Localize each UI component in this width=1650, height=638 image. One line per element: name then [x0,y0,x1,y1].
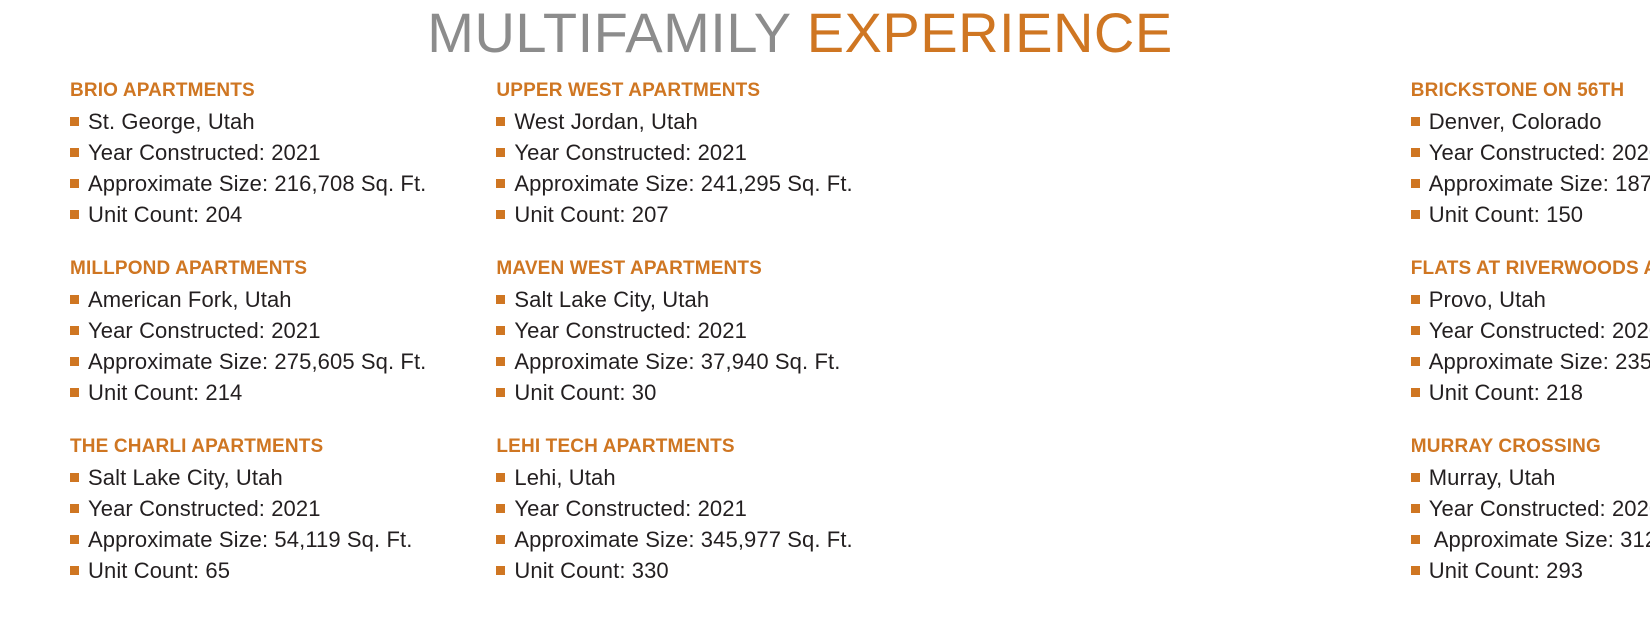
square-bullet-icon [1411,295,1420,304]
project-block-murray-crossing: MURRAY CROSSING Murray, Utah Year Constr… [1411,434,1650,586]
project-fact: Unit Count: 218 [1411,377,1650,408]
project-fact-list: Denver, Colorado Year Constructed: 2020 … [1411,106,1650,230]
project-fact-text: Denver, Colorado [1429,106,1602,137]
square-bullet-icon [496,179,505,188]
projects-grid: BRIO APARTMENTS St. George, Utah Year Co… [0,78,1650,586]
square-bullet-icon [496,566,505,575]
square-bullet-icon [70,535,79,544]
square-bullet-icon [496,504,505,513]
project-fact-text: Unit Count: 218 [1429,377,1583,408]
page-title: MULTIFAMILY EXPERIENCE [0,2,1600,64]
square-bullet-icon [70,566,79,575]
square-bullet-icon [70,326,79,335]
project-fact: Year Constructed: 2020 [1411,493,1650,524]
project-fact: Approximate Size: 312,562 Sq. Ft. [1411,524,1650,555]
project-fact-text: Unit Count: 293 [1429,555,1583,586]
square-bullet-icon [1411,117,1420,126]
project-fact-text: Provo, Utah [1429,284,1546,315]
project-fact: Provo, Utah [1411,284,1650,315]
square-bullet-icon [496,357,505,366]
project-title: BRICKSTONE ON 56TH [1411,78,1650,104]
project-fact-list: Murray, Utah Year Constructed: 2020 Appr… [1411,462,1650,586]
project-fact-text: Murray, Utah [1429,462,1556,493]
project-fact-text: Year Constructed: 2020 [1429,493,1650,524]
square-bullet-icon [496,295,505,304]
square-bullet-icon [1411,357,1420,366]
project-fact: Year Constructed: 2020 [1411,137,1650,168]
square-bullet-icon [1411,326,1420,335]
project-fact-text: Unit Count: 150 [1429,199,1583,230]
square-bullet-icon [1411,504,1420,513]
project-fact: Approximate Size: 235,676 Sq. Ft. [1411,346,1650,377]
project-title: FLATS AT RIVERWOODS APARTMENTS [1411,256,1650,282]
square-bullet-icon [70,357,79,366]
project-block-brickstone-on-56th: BRICKSTONE ON 56TH Denver, Colorado Year… [1411,78,1650,230]
square-bullet-icon [496,210,505,219]
project-fact-list: Provo, Utah Year Constructed: 2020 Appro… [1411,284,1650,408]
square-bullet-icon [70,473,79,482]
square-bullet-icon [496,326,505,335]
page-title-accent: EXPERIENCE [807,1,1173,64]
square-bullet-icon [1411,388,1420,397]
square-bullet-icon [70,295,79,304]
square-bullet-icon [1411,179,1420,188]
project-fact: Murray, Utah [1411,462,1650,493]
project-fact: Year Constructed: 2020 [1411,315,1650,346]
square-bullet-icon [496,473,505,482]
project-title: MURRAY CROSSING [1411,434,1650,460]
square-bullet-icon [70,388,79,397]
square-bullet-icon [1411,148,1420,157]
square-bullet-icon [496,148,505,157]
square-bullet-icon [70,210,79,219]
project-fact-text: Year Constructed: 2020 [1429,137,1650,168]
project-fact-text: Approximate Size: 187,401 Sq. Ft. [1429,168,1650,199]
project-fact: Approximate Size: 187,401 Sq. Ft. [1411,168,1650,199]
project-block-flats-at-riverwoods-apartments: FLATS AT RIVERWOODS APARTMENTS Provo, Ut… [1411,256,1650,408]
project-fact-text: Approximate Size: 235,676 Sq. Ft. [1429,346,1650,377]
project-fact: Unit Count: 293 [1411,555,1650,586]
project-fact: Denver, Colorado [1411,106,1650,137]
square-bullet-icon [1411,535,1420,544]
square-bullet-icon [1411,566,1420,575]
square-bullet-icon [70,504,79,513]
square-bullet-icon [1411,473,1420,482]
square-bullet-icon [70,117,79,126]
square-bullet-icon [496,117,505,126]
project-column-3: BRICKSTONE ON 56TH Denver, Colorado Year… [365,78,1650,586]
square-bullet-icon [70,179,79,188]
project-fact-text: Year Constructed: 2020 [1429,315,1650,346]
page-title-primary: MULTIFAMILY [427,1,806,64]
square-bullet-icon [1411,210,1420,219]
project-fact: Unit Count: 150 [1411,199,1650,230]
project-fact-text: Approximate Size: 312,562 Sq. Ft. [1429,524,1650,555]
square-bullet-icon [496,535,505,544]
square-bullet-icon [496,388,505,397]
square-bullet-icon [70,148,79,157]
